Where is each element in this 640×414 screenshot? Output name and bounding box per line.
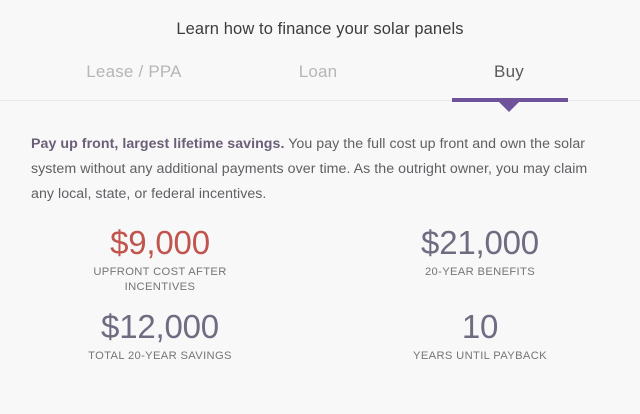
tab-loan-label: Loan <box>299 62 338 81</box>
page-title: Learn how to finance your solar panels <box>0 11 640 39</box>
stat-years-until-payback: 10 Years until payback <box>320 307 640 364</box>
stat-years-until-payback-value: 10 <box>330 307 630 347</box>
description-paragraph: Pay up front, largest lifetime savings. … <box>31 132 609 207</box>
tab-buy-label: Buy <box>494 62 524 81</box>
stat-total-savings-label: Total 20-year savings <box>10 349 310 364</box>
stat-twenty-year-benefits: $21,000 20-year benefits <box>320 223 640 295</box>
active-tab-arrow-icon <box>499 102 519 112</box>
tab-loan[interactable]: Loan <box>293 60 344 84</box>
stat-years-until-payback-label: Years until payback <box>330 349 630 364</box>
tab-bar: Lease / PPA Loan Buy <box>0 60 640 110</box>
tab-lease-ppa-label: Lease / PPA <box>86 62 181 81</box>
tab-buy[interactable]: Buy <box>488 60 530 84</box>
description-lead: Pay up front, largest lifetime savings. <box>31 136 284 152</box>
stat-twenty-year-benefits-value: $21,000 <box>330 223 630 263</box>
stats-grid: $9,000 Upfront cost after incentives $21… <box>0 223 640 364</box>
stat-upfront-cost-label: Upfront cost after incentives <box>80 265 240 295</box>
stat-total-savings-value: $12,000 <box>10 307 310 347</box>
stat-upfront-cost: $9,000 Upfront cost after incentives <box>0 223 320 295</box>
finance-panel: Learn how to finance your solar panels L… <box>0 11 640 364</box>
tab-lease-ppa[interactable]: Lease / PPA <box>80 60 187 84</box>
stat-upfront-cost-value: $9,000 <box>10 223 310 263</box>
stat-total-savings: $12,000 Total 20-year savings <box>0 307 320 364</box>
stat-twenty-year-benefits-label: 20-year benefits <box>330 265 630 280</box>
